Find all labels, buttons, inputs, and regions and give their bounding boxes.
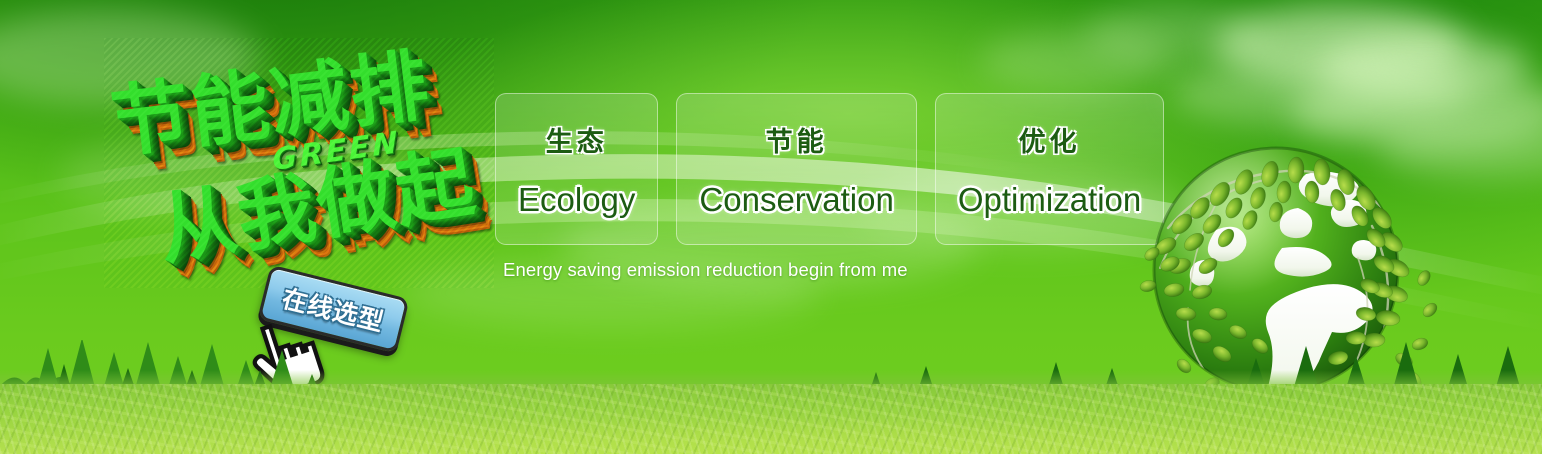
card-title-zh: 优化: [1019, 120, 1081, 159]
feature-card-list: 生态 Ecology 节能 Conservation 优化 Optimizati…: [495, 93, 1164, 245]
feature-card-conservation[interactable]: 节能 Conservation: [676, 93, 916, 245]
card-title-en: Ecology: [518, 181, 635, 219]
card-title-en: Conservation: [699, 181, 893, 219]
tagline-text: Energy saving emission reduction begin f…: [503, 259, 908, 281]
feature-card-ecology[interactable]: 生态 Ecology: [495, 93, 658, 245]
card-title-zh: 生态: [546, 120, 608, 159]
grass-texture: [0, 384, 1542, 454]
logo-3d-title: 节能减排 GREEN 从我做起: [104, 38, 494, 288]
card-title-zh: 节能: [766, 120, 828, 159]
hero-banner: 节能减排 GREEN 从我做起 在线选型 生态 Ecology 节能 Conse…: [0, 0, 1542, 454]
cloud-icon: [980, 30, 1170, 92]
